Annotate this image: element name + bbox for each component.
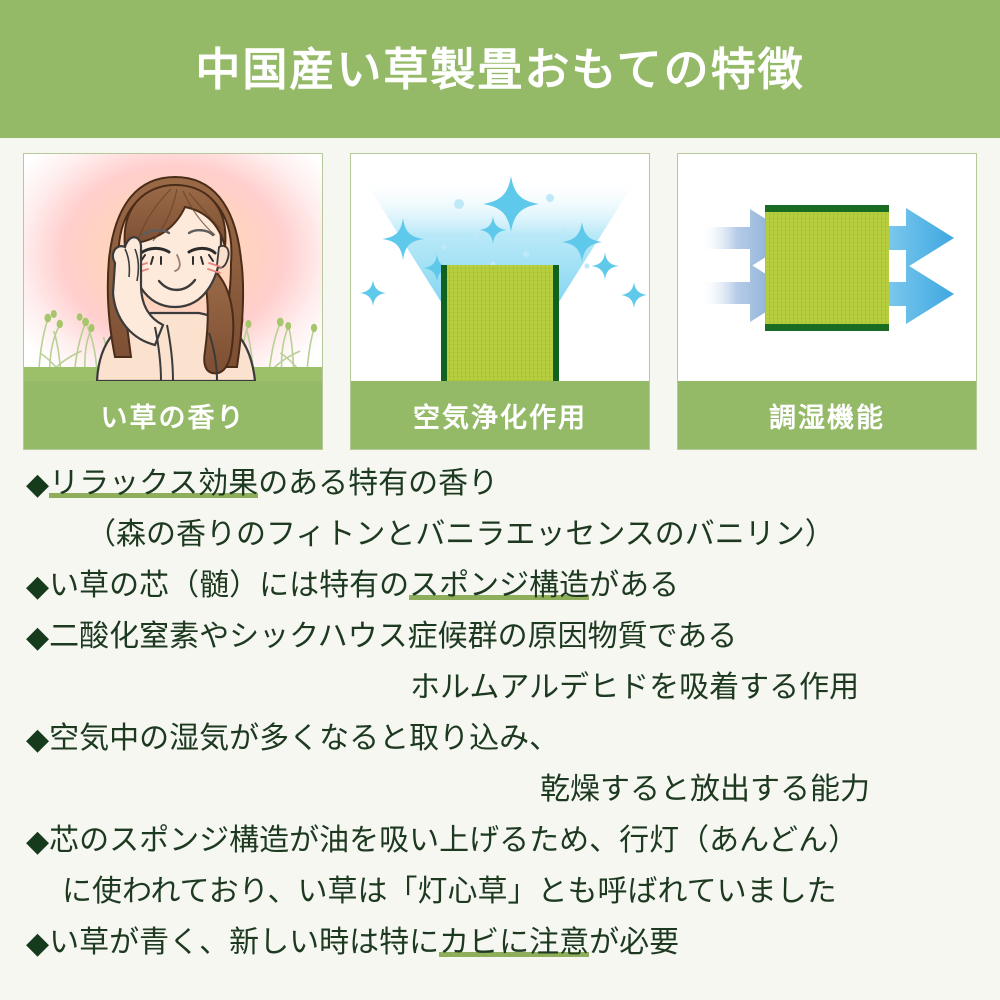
feature-text: い草の芯（髄）には特有の	[49, 569, 409, 602]
feature-line: ◆芯のスポンジ構造が油を吸い上げるため、行灯（あんどん）	[0, 815, 1000, 866]
tatami-surface	[441, 265, 559, 381]
page-header: 中国産い草製畳おもての特徴	[0, 0, 1000, 138]
tatami-edge-bottom	[765, 324, 889, 331]
diamond-bullet-icon: ◆	[26, 816, 49, 867]
tatami-edge-left	[441, 265, 447, 381]
tatami-edge-top	[765, 205, 889, 212]
feature-line: ◆空気中の湿気が多くなると取り込み、	[0, 713, 1000, 764]
card-label-humidity-control: 調湿機能	[678, 381, 976, 449]
feature-line: ◆リラックス効果のある特有の香り	[0, 458, 1000, 509]
card-label-scent: い草の香り	[24, 381, 322, 449]
tatami-mat-humidity	[765, 205, 889, 331]
feature-text: がある	[589, 569, 679, 602]
tatami-mat-purify	[441, 265, 559, 381]
highlighted-term: リラックス効果	[49, 467, 258, 502]
highlighted-term: スポンジ構造	[409, 569, 589, 604]
feature-line: ◆い草の芯（髄）には特有のスポンジ構造がある	[0, 560, 1000, 611]
feature-line: ホルムアルデヒドを吸着する作用	[0, 662, 1000, 713]
tatami-edge-right	[553, 265, 559, 381]
feature-line: ◆い草が青く、新しい時は特にカビに注意が必要	[0, 917, 1000, 968]
feature-card-row: い草の香り	[23, 153, 977, 450]
feature-text: （森の香りのフィトンとバニラエッセンスのバニリン）	[86, 518, 835, 551]
feature-text: が必要	[589, 926, 679, 959]
diamond-bullet-icon: ◆	[26, 459, 49, 510]
card-label-air-purification: 空気浄化作用	[351, 381, 649, 449]
feature-line: （森の香りのフィトンとバニラエッセンスのバニリン）	[0, 509, 1000, 560]
feature-text: 芯のスポンジ構造が油を吸い上げるため、行灯（あんどん）	[49, 824, 858, 857]
page-title: 中国産い草製畳おもての特徴	[195, 47, 804, 92]
highlighted-term: カビに注意	[439, 926, 589, 961]
woman-face-illustration	[59, 167, 287, 381]
feature-text: 乾燥すると放出する能力	[540, 773, 870, 806]
feature-text: に使われており、い草は「灯心草」とも呼ばれていました	[62, 875, 837, 908]
diamond-bullet-icon: ◆	[26, 612, 49, 663]
infographic-page: 中国産い草製畳おもての特徴	[0, 0, 1000, 1000]
feature-card-scent[interactable]: い草の香り	[23, 153, 323, 450]
feature-list: ◆リラックス効果のある特有の香り（森の香りのフィトンとバニラエッセンスのバニリン…	[0, 458, 1000, 968]
diamond-bullet-icon: ◆	[26, 714, 49, 765]
feature-text: 二酸化窒素やシックハウス症候群の原因物質である	[49, 620, 737, 653]
feature-line: 乾燥すると放出する能力	[0, 764, 1000, 815]
feature-card-air-purification[interactable]: 空気浄化作用	[350, 153, 650, 450]
feature-card-humidity-control[interactable]: 調湿機能	[677, 153, 977, 450]
feature-text: い草が青く、新しい時は特に	[49, 926, 439, 959]
diamond-bullet-icon: ◆	[26, 918, 49, 969]
card-art-humidity-control	[678, 154, 976, 381]
feature-text: のある特有の香り	[258, 467, 498, 500]
card-art-scent	[24, 154, 322, 381]
diamond-bullet-icon: ◆	[26, 561, 49, 612]
feature-line: ◆二酸化窒素やシックハウス症候群の原因物質である	[0, 611, 1000, 662]
feature-line: に使われており、い草は「灯心草」とも呼ばれていました	[0, 866, 1000, 917]
tatami-surface	[765, 205, 889, 331]
feature-text: 空気中の湿気が多くなると取り込み、	[49, 722, 559, 755]
feature-text: ホルムアルデヒドを吸着する作用	[410, 671, 859, 704]
card-art-air-purification	[351, 154, 649, 381]
